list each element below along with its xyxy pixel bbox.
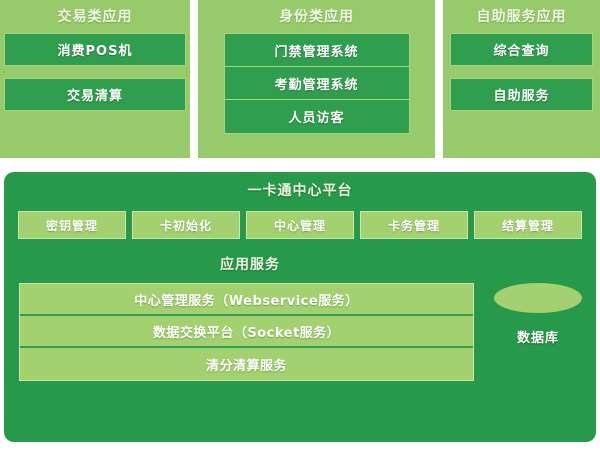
panel-selfservice-applications: 自助服务应用 综合查询 自助服务: [443, 0, 600, 158]
database-top: [494, 283, 582, 313]
app-box-pos[interactable]: 消费POS机: [4, 33, 186, 66]
architecture-diagram: 交易类应用 消费POS机 交易清算 身份类应用 门禁管理系统 考勤管理系统 人员…: [0, 0, 600, 450]
panel-items-selfservice: 综合查询 自助服务: [443, 33, 600, 111]
module-card-init[interactable]: 卡初始化: [132, 211, 240, 239]
database-label: 数据库: [494, 327, 582, 346]
service-list: 中心管理服务（Webservice服务） 数据交换平台（Socket服务） 清分…: [19, 283, 474, 381]
module-card-service[interactable]: 卡务管理: [360, 211, 468, 239]
panel-items-transaction: 消费POS机 交易清算: [0, 33, 190, 111]
module-center-management[interactable]: 中心管理: [246, 211, 354, 239]
app-box-access-control[interactable]: 门禁管理系统: [225, 34, 409, 67]
panel-items-identity: 门禁管理系统 考勤管理系统 人员访客: [198, 33, 435, 134]
module-key-management[interactable]: 密钥管理: [18, 211, 126, 239]
service-data-exchange[interactable]: 数据交换平台（Socket服务）: [20, 316, 473, 348]
bottom-margin: [0, 443, 600, 450]
service-center-management[interactable]: 中心管理服务（Webservice服务）: [20, 284, 473, 316]
application-layer: 交易类应用 消费POS机 交易清算 身份类应用 门禁管理系统 考勤管理系统 人员…: [0, 0, 600, 158]
service-clearing-settlement[interactable]: 清分清算服务: [20, 348, 473, 380]
app-box-query[interactable]: 综合查询: [450, 33, 593, 66]
module-settlement-management[interactable]: 结算管理: [474, 211, 582, 239]
panel-transaction-applications: 交易类应用 消费POS机 交易清算: [0, 0, 190, 158]
app-box-selfservice[interactable]: 自助服务: [450, 78, 593, 111]
platform-title: 一卡通中心平台: [4, 181, 596, 201]
app-box-attendance[interactable]: 考勤管理系统: [225, 67, 409, 100]
panel-title-transaction: 交易类应用: [58, 7, 133, 27]
identity-box-stack: 门禁管理系统 考勤管理系统 人员访客: [224, 33, 410, 134]
platform-module-row: 密钥管理 卡初始化 中心管理 卡务管理 结算管理: [4, 211, 596, 239]
panel-title-identity: 身份类应用: [279, 7, 354, 27]
application-services-section: 应用服务 中心管理服务（Webservice服务） 数据交换平台（Socket服…: [4, 255, 596, 393]
platform-layer: 一卡通中心平台 密钥管理 卡初始化 中心管理 卡务管理 结算管理 应用服务 中心…: [4, 172, 596, 442]
app-box-visitor[interactable]: 人员访客: [225, 100, 409, 133]
database-cylinder-icon: 数据库: [494, 283, 582, 383]
app-box-settlement[interactable]: 交易清算: [4, 78, 186, 111]
layer-divider: [0, 158, 600, 172]
panel-identity-applications: 身份类应用 门禁管理系统 考勤管理系统 人员访客: [198, 0, 435, 158]
panel-title-selfservice: 自助服务应用: [477, 7, 567, 27]
application-services-title: 应用服务: [0, 255, 596, 275]
